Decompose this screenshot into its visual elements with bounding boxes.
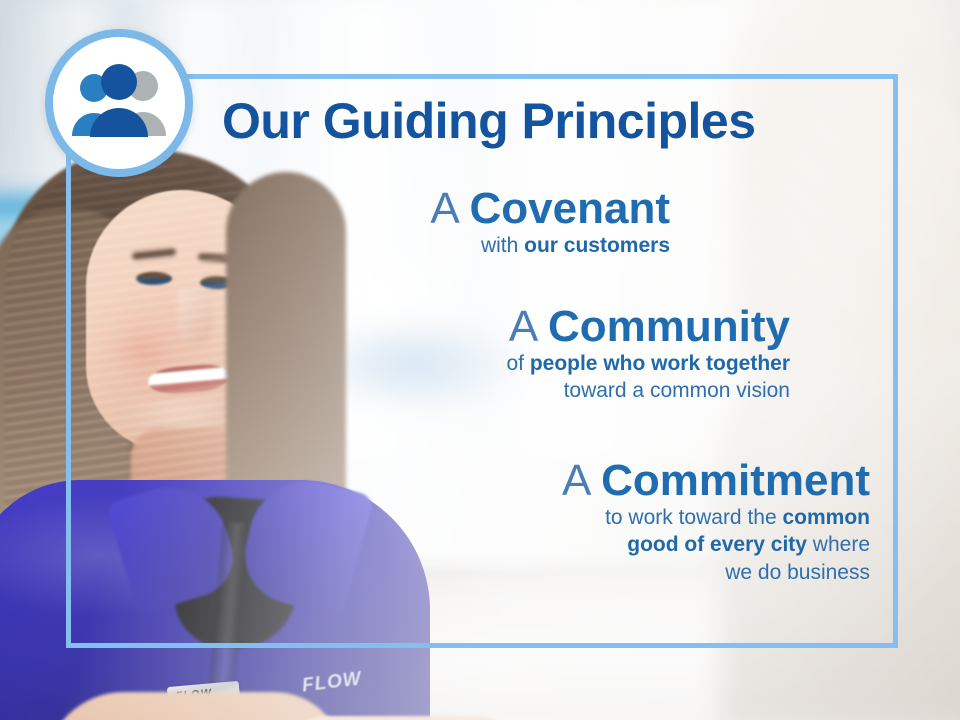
principle-block-commitment: A Commitment to work toward the common g… bbox=[350, 458, 870, 587]
subtext-segment: of bbox=[506, 352, 529, 375]
principle-lead: A Commitment bbox=[350, 458, 870, 504]
principle-subtext: to work toward the common good of every … bbox=[350, 504, 870, 587]
principle-word: Community bbox=[548, 302, 790, 351]
subtext-line: with our customers bbox=[250, 232, 670, 260]
group-of-people-badge bbox=[45, 29, 193, 177]
page-title: Our Guiding Principles bbox=[222, 96, 872, 146]
subtext-line: toward a common vision bbox=[300, 377, 790, 405]
subtext-segment: where bbox=[807, 533, 870, 556]
subtext-segment-bold: people who work together bbox=[530, 352, 790, 375]
subtext-segment: with bbox=[481, 234, 524, 257]
principle-block-covenant: A Covenant with our customers bbox=[250, 186, 670, 259]
principle-block-community: A Community of people who work together … bbox=[300, 304, 790, 405]
principle-lead: A Community bbox=[300, 304, 790, 350]
subtext-line: to work toward the common bbox=[350, 504, 870, 532]
marketing-banner: FLOW FLOW bbox=[0, 0, 960, 720]
subtext-segment-bold: common bbox=[782, 506, 870, 529]
subtext-line: of people who work together bbox=[300, 350, 790, 378]
group-of-people-icon bbox=[67, 64, 171, 142]
principle-subtext: of people who work together toward a com… bbox=[300, 350, 790, 405]
subtext-line: we do business bbox=[350, 559, 870, 587]
subtext-segment-bold: good of every city bbox=[627, 533, 807, 556]
principle-article: A bbox=[509, 302, 536, 351]
subtext-segment-bold: our customers bbox=[524, 234, 670, 257]
principle-subtext: with our customers bbox=[250, 232, 670, 260]
principle-article: A bbox=[562, 456, 589, 505]
principle-article: A bbox=[430, 184, 457, 233]
subtext-segment: to work toward the bbox=[605, 506, 782, 529]
principle-lead: A Covenant bbox=[250, 186, 670, 232]
principle-word: Commitment bbox=[601, 456, 870, 505]
principle-word: Covenant bbox=[470, 184, 670, 233]
subtext-line: good of every city where bbox=[350, 531, 870, 559]
